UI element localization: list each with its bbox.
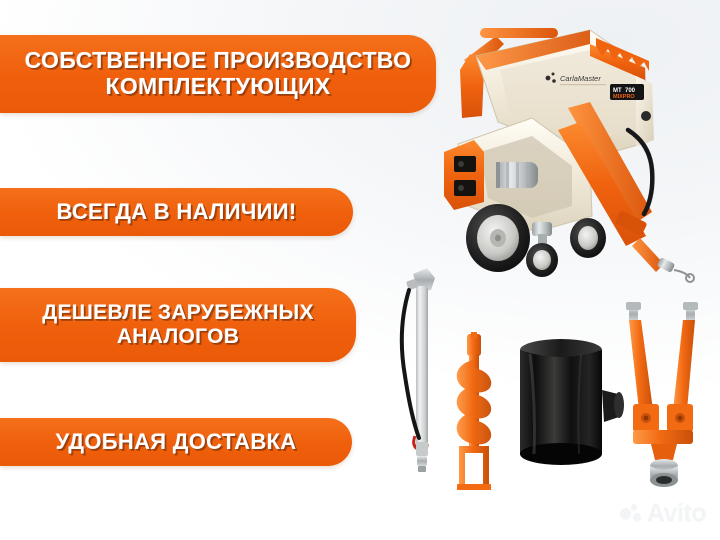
avito-dots-icon xyxy=(620,504,642,524)
avito-watermark-text: Avito xyxy=(647,501,706,526)
feature-banner-text: СОБСТВЕННОЕ ПРОИЗВОДСТВО КОМПЛЕКТУЮЩИХ xyxy=(11,48,426,100)
feature-banner-always-in-stock: ВСЕГДА В НАЛИЧИИ! xyxy=(0,188,353,236)
spare-parts-photo xyxy=(385,250,720,490)
part-mixer-bracket-coupling xyxy=(626,302,698,487)
ad-banner-image: СОБСТВЕННОЕ ПРОИЗВОДСТВО КОМПЛЕКТУЮЩИХ В… xyxy=(0,0,720,540)
svg-text:MIXPRO: MIXPRO xyxy=(613,94,635,100)
feature-banner-text: УДОБНАЯ ДОСТАВКА xyxy=(42,430,311,455)
machine-model-badge: MT 700 MIXPRO xyxy=(610,84,644,100)
feature-banner-own-production: СОБСТВЕННОЕ ПРОИЗВОДСТВО КОМПЛЕКТУЮЩИХ xyxy=(0,35,436,113)
avito-watermark: Avito xyxy=(620,501,706,526)
feature-banner-text: ДЕШЕВЛЕ ЗАРУБЕЖНЫХ АНАЛОГОВ xyxy=(28,301,328,348)
machine-control-panel xyxy=(444,140,484,210)
spare-parts-illustration xyxy=(385,250,720,490)
part-stator-cylinder xyxy=(520,339,624,465)
feature-banner-cheaper-than-imports: ДЕШЕВЛЕ ЗАРУБЕЖНЫХ АНАЛОГОВ xyxy=(0,288,356,362)
part-hose-rod-assembly xyxy=(402,268,435,472)
svg-text:CarlaMaster: CarlaMaster xyxy=(560,74,601,83)
feature-banner-convenient-delivery: УДОБНАЯ ДОСТАВКА xyxy=(0,418,352,466)
machine-motor xyxy=(496,162,538,188)
feature-banner-text: ВСЕГДА В НАЛИЧИИ! xyxy=(42,200,310,225)
part-auger-screw-rotor xyxy=(457,332,492,490)
